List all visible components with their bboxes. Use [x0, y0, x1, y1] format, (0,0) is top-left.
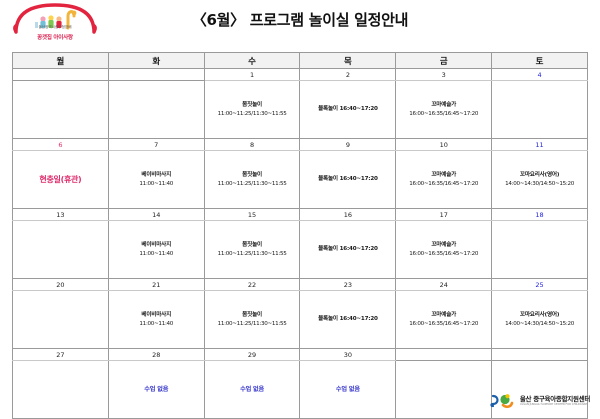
column-header-tue: 화 [108, 53, 204, 69]
day-cell-4[interactable] [492, 81, 588, 139]
program-inline-label: 블록놀이 16:40~17:20 [301, 315, 394, 323]
day-number-30: 30 [300, 349, 396, 361]
day-number-blank [396, 349, 492, 361]
day-cell-17[interactable]: 꼬마예술가16:00~16:35/16:45~17:20 [396, 221, 492, 279]
calendar-event-row: 현충일(휴관)베이비마사지11:00~11:40몸짓놀이11:00~11:25/… [13, 151, 588, 209]
program-title: 몸짓놀이 [206, 171, 299, 179]
day-cell-1[interactable]: 몸짓놀이11:00~11:25/11:30~11:55 [204, 81, 300, 139]
day-cell-2[interactable]: 블록놀이 16:40~17:20 [300, 81, 396, 139]
program-title: 꼬마예술가 [397, 311, 490, 319]
program-title: 몸짓놀이 [206, 101, 299, 109]
day-number-28: 28 [108, 349, 204, 361]
day-number-4: 4 [492, 69, 588, 81]
day-cell-21[interactable]: 베이비마사지11:00~11:40 [108, 291, 204, 349]
program-calendar: 월 화 수 목 금 토 1234몸짓놀이11:00~11:25/11:30~11… [12, 52, 588, 419]
day-number-27: 27 [13, 349, 109, 361]
program-time: 11:00~11:25/11:30~11:55 [206, 110, 299, 118]
day-cell-blank [108, 81, 204, 139]
program-time: 11:00~11:40 [110, 320, 203, 328]
day-cell-30[interactable]: 수업 없음 [300, 361, 396, 419]
program-time: 16:00~16:35/16:45~17:20 [397, 180, 490, 188]
footer-org-sub: ULSAN JUNGGU SUPPORT CENTER FOR CHILDCAR… [520, 403, 590, 406]
program-time: 11:00~11:40 [110, 250, 203, 258]
column-header-sat: 토 [492, 53, 588, 69]
day-number-16: 16 [300, 209, 396, 221]
program-title: 꼬마요리사(영어) [493, 311, 586, 319]
day-number-29: 29 [204, 349, 300, 361]
day-number-18: 18 [492, 209, 588, 221]
footer-branding: 울산 중구육아종합지원센터 ULSAN JUNGGU SUPPORT CENTE… [490, 393, 590, 409]
day-number-15: 15 [204, 209, 300, 221]
program-title: 꼬마요리사(영어) [493, 171, 586, 179]
day-number-8: 8 [204, 139, 300, 151]
day-cell-16[interactable]: 블록놀이 16:40~17:20 [300, 221, 396, 279]
day-number-20: 20 [13, 279, 109, 291]
day-number-25: 25 [492, 279, 588, 291]
day-number-3: 3 [396, 69, 492, 81]
program-time: 11:00~11:25/11:30~11:55 [206, 180, 299, 188]
day-cell-6[interactable]: 현충일(휴관) [13, 151, 109, 209]
program-title: 베이비마사지 [110, 311, 203, 319]
day-cell-blank [13, 81, 109, 139]
calendar-daynumber-row: 67891011 [13, 139, 588, 151]
day-cell-9[interactable]: 블록놀이 16:40~17:20 [300, 151, 396, 209]
day-number-7: 7 [108, 139, 204, 151]
page-title: 〈6월〉 프로그램 놀이실 일정안내 [0, 9, 600, 30]
program-time: 16:00~16:35/16:45~17:20 [397, 250, 490, 258]
day-number-14: 14 [108, 209, 204, 221]
day-number-blank [108, 69, 204, 81]
program-title: 몸짓놀이 [206, 311, 299, 319]
program-time: 14:00~14:30/14:50~15:20 [493, 320, 586, 328]
day-cell-10[interactable]: 꼬마예술가16:00~16:35/16:45~17:20 [396, 151, 492, 209]
day-cell-blank [396, 361, 492, 419]
program-title: 꼬마예술가 [397, 171, 490, 179]
day-cell-27[interactable] [13, 361, 109, 419]
program-inline-label: 블록놀이 16:40~17:20 [301, 105, 394, 113]
calendar-daynumber-row: 27282930 [13, 349, 588, 361]
day-number-6: 6 [13, 139, 109, 151]
day-cell-22[interactable]: 몸짓놀이11:00~11:25/11:30~11:55 [204, 291, 300, 349]
no-class-label: 수업 없음 [301, 385, 394, 394]
program-title: 몸짓놀이 [206, 241, 299, 249]
no-class-label: 수업 없음 [206, 385, 299, 394]
calendar-header-row: 월 화 수 목 금 토 [13, 53, 588, 69]
day-cell-13[interactable] [13, 221, 109, 279]
day-cell-8[interactable]: 몸짓놀이11:00~11:25/11:30~11:55 [204, 151, 300, 209]
column-header-thu: 목 [300, 53, 396, 69]
day-number-17: 17 [396, 209, 492, 221]
day-number-11: 11 [492, 139, 588, 151]
day-number-22: 22 [204, 279, 300, 291]
program-inline-label: 블록놀이 16:40~17:20 [301, 245, 394, 253]
calendar-daynumber-row: 202122232425 [13, 279, 588, 291]
column-header-fri: 금 [396, 53, 492, 69]
program-title: 베이비마사지 [110, 241, 203, 249]
day-number-13: 13 [13, 209, 109, 221]
day-cell-14[interactable]: 베이비마사지11:00~11:40 [108, 221, 204, 279]
center-logo-icon [490, 393, 516, 409]
day-number-21: 21 [108, 279, 204, 291]
day-cell-29[interactable]: 수업 없음 [204, 361, 300, 419]
program-time: 16:00~16:35/16:45~17:20 [397, 110, 490, 118]
day-cell-11[interactable]: 꼬마요리사(영어)14:00~14:30/14:50~15:20 [492, 151, 588, 209]
column-header-wed: 수 [204, 53, 300, 69]
program-title: 베이비마사지 [110, 171, 203, 179]
program-title: 꼬마예술가 [397, 241, 490, 249]
day-cell-24[interactable]: 꼬마예술가16:00~16:35/16:45~17:20 [396, 291, 492, 349]
day-number-23: 23 [300, 279, 396, 291]
logo-caption: 꽁갯집 아이사랑 [12, 33, 98, 41]
day-cell-7[interactable]: 베이비마사지11:00~11:40 [108, 151, 204, 209]
program-title: 꼬마예술가 [397, 101, 490, 109]
day-number-2: 2 [300, 69, 396, 81]
holiday-label: 현충일(휴관) [14, 174, 107, 186]
day-cell-3[interactable]: 꼬마예술가16:00~16:35/16:45~17:20 [396, 81, 492, 139]
column-header-mon: 월 [13, 53, 109, 69]
day-cell-23[interactable]: 블록놀이 16:40~17:20 [300, 291, 396, 349]
day-number-1: 1 [204, 69, 300, 81]
program-time: 11:00~11:40 [110, 180, 203, 188]
program-time: 14:00~14:30/14:50~15:20 [493, 180, 586, 188]
day-cell-18[interactable] [492, 221, 588, 279]
day-number-24: 24 [396, 279, 492, 291]
day-number-blank [492, 349, 588, 361]
calendar-event-row: 몸짓놀이11:00~11:25/11:30~11:55블록놀이 16:40~17… [13, 81, 588, 139]
day-cell-20[interactable] [13, 291, 109, 349]
calendar-event-row: 수업 없음수업 없음수업 없음 [13, 361, 588, 419]
day-number-10: 10 [396, 139, 492, 151]
day-cell-25[interactable]: 꼬마요리사(영어)14:00~14:30/14:50~15:20 [492, 291, 588, 349]
day-number-blank [13, 69, 109, 81]
program-time: 16:00~16:35/16:45~17:20 [397, 320, 490, 328]
day-cell-blank [492, 361, 588, 419]
page-header: 울산광역시중구청장배 꽁갯집 아이사랑 〈6월〉 프로그램 놀이실 일정안내 [0, 0, 600, 48]
calendar-event-row: 베이비마사지11:00~11:40몸짓놀이11:00~11:25/11:30~1… [13, 221, 588, 279]
program-time: 11:00~11:25/11:30~11:55 [206, 250, 299, 258]
no-class-label: 수업 없음 [110, 385, 203, 394]
calendar-event-row: 베이비마사지11:00~11:40몸짓놀이11:00~11:25/11:30~1… [13, 291, 588, 349]
program-inline-label: 블록놀이 16:40~17:20 [301, 175, 394, 183]
program-time: 11:00~11:25/11:30~11:55 [206, 320, 299, 328]
day-cell-28[interactable]: 수업 없음 [108, 361, 204, 419]
day-number-9: 9 [300, 139, 396, 151]
day-cell-15[interactable]: 몸짓놀이11:00~11:25/11:30~11:55 [204, 221, 300, 279]
calendar-daynumber-row: 1234 [13, 69, 588, 81]
calendar-daynumber-row: 131415161718 [13, 209, 588, 221]
